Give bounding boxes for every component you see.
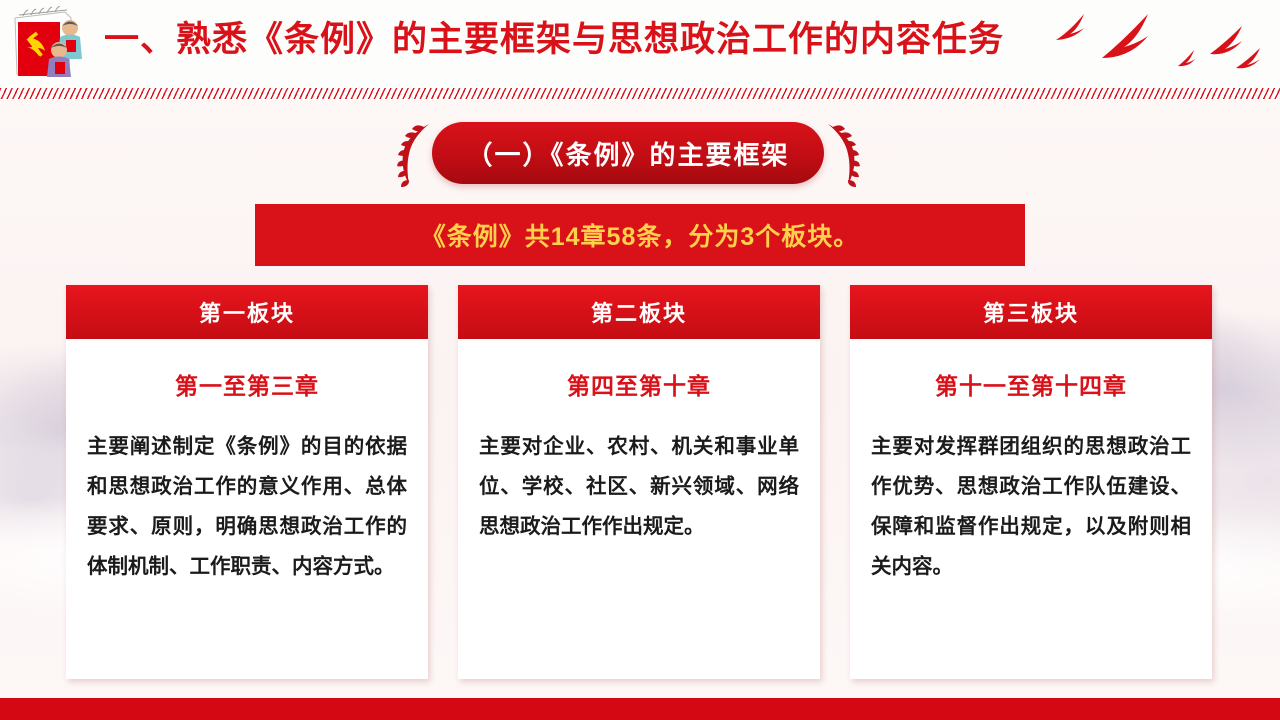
block-card-2-body: 主要对企业、农村、机关和事业单位、学校、社区、新兴领域、网络思想政治工作作出规定… — [479, 427, 799, 547]
party-book-emblem-icon — [7, 6, 89, 84]
block-card-2-subtitle: 第四至第十章 — [458, 367, 820, 401]
laurel-branch-left-icon — [391, 120, 437, 188]
block-card-2-header: 第二板块 — [458, 285, 820, 339]
header-hatch-divider — [0, 88, 1280, 99]
block-card-1-title: 第一板块 — [199, 296, 295, 328]
slide-header: 一、熟悉《条例》的主要框架与思想政治工作的内容任务 — [0, 0, 1280, 88]
summary-banner: 《条例》共14章58条，分为3个板块。 — [255, 204, 1025, 266]
summary-banner-text: 《条例》共14章58条，分为3个板块。 — [421, 217, 860, 253]
blocks-card-group: 第一板块 第一至第三章 主要阐述制定《条例》的目的依据和思想政治工作的意义作用、… — [0, 285, 1280, 685]
laurel-branch-right-icon — [820, 120, 866, 188]
block-card-3-subtitle: 第十一至第十四章 — [850, 367, 1212, 401]
footer-red-bar — [0, 698, 1280, 720]
section-title-text: （一）《条例》的主要框架 — [466, 135, 789, 172]
block-card-1-subtitle: 第一至第三章 — [66, 367, 428, 401]
page-title: 一、熟悉《条例》的主要框架与思想政治工作的内容任务 — [104, 14, 1004, 66]
block-card-1-header: 第一板块 — [66, 285, 428, 339]
block-card-1-body: 主要阐述制定《条例》的目的依据和思想政治工作的意义作用、总体要求、原则，明确思想… — [87, 427, 407, 587]
block-card-3-header: 第三板块 — [850, 285, 1212, 339]
block-card-2-title: 第二板块 — [591, 296, 687, 328]
block-card-3-title: 第三板块 — [983, 296, 1079, 328]
section-title-pill: （一）《条例》的主要框架 — [432, 122, 824, 184]
slide-root: 一、熟悉《条例》的主要框架与思想政治工作的内容任务 — [0, 0, 1280, 720]
block-card-3-body: 主要对发挥群团组织的思想政治工作优势、思想政治工作队伍建设、保障和监督作出规定，… — [871, 427, 1191, 587]
flying-doves-icon — [1050, 6, 1275, 76]
block-card-1[interactable]: 第一板块 第一至第三章 主要阐述制定《条例》的目的依据和思想政治工作的意义作用、… — [66, 285, 428, 679]
block-card-3[interactable]: 第三板块 第十一至第十四章 主要对发挥群团组织的思想政治工作优势、思想政治工作队… — [850, 285, 1212, 679]
section-title-group: （一）《条例》的主要框架 — [0, 118, 1280, 190]
block-card-2[interactable]: 第二板块 第四至第十章 主要对企业、农村、机关和事业单位、学校、社区、新兴领域、… — [458, 285, 820, 679]
